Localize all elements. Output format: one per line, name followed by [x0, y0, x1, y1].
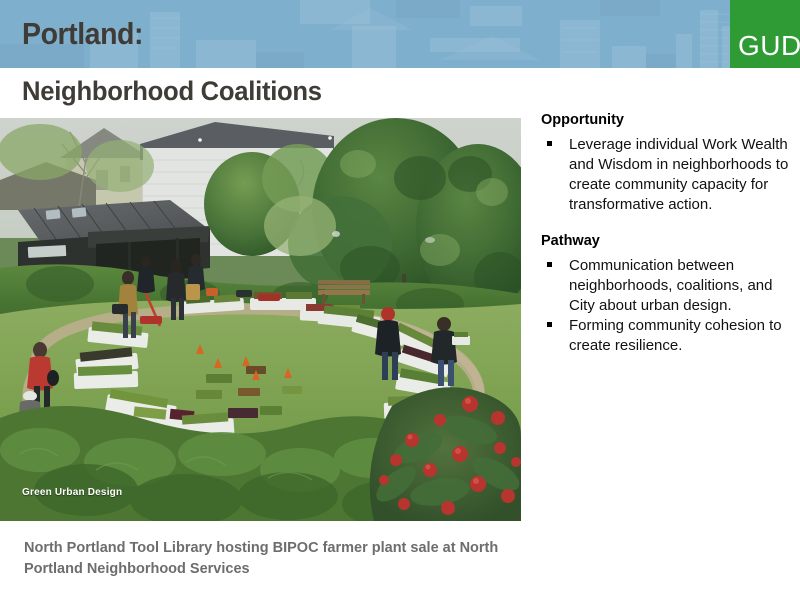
section-heading-pathway: Pathway: [541, 233, 791, 250]
section-pathway: Pathway Communication between neighborho…: [541, 233, 791, 356]
page-title: Portland:: [22, 18, 143, 49]
square-bullet-icon: [547, 141, 552, 146]
photo-illustration: [0, 118, 521, 521]
plant-sale-photo: Green Urban Design: [0, 118, 521, 521]
slide-subtitle: Neighborhood Coalitions: [22, 77, 322, 107]
list-item-text: Leverage individual Work Wealth and Wisd…: [569, 136, 788, 212]
list-item-text: Communication between neighborhoods, coa…: [569, 257, 772, 314]
square-bullet-icon: [547, 322, 552, 327]
list-item: Forming community cohesion to create res…: [541, 316, 791, 356]
bullet-list-pathway: Communication between neighborhoods, coa…: [541, 256, 791, 356]
section-spacer: [541, 216, 791, 233]
photo-watermark: Green Urban Design: [22, 487, 122, 498]
bullet-list-opportunity: Leverage individual Work Wealth and Wisd…: [541, 135, 791, 214]
section-opportunity: Opportunity Leverage individual Work Wea…: [541, 112, 791, 215]
header-band: Portland:: [0, 0, 800, 68]
content-column: Opportunity Leverage individual Work Wea…: [541, 112, 791, 357]
list-item-text: Forming community cohesion to create res…: [569, 317, 782, 354]
section-heading-opportunity: Opportunity: [541, 112, 791, 129]
slide-canvas: Portland: GUD Neighborhood Coalitions: [0, 0, 800, 600]
gud-logo-text: GUD: [738, 32, 800, 60]
list-item: Leverage individual Work Wealth and Wisd…: [541, 135, 791, 214]
square-bullet-icon: [547, 262, 552, 267]
list-item: Communication between neighborhoods, coa…: [541, 256, 791, 315]
photo-caption: North Portland Tool Library hosting BIPO…: [24, 538, 504, 580]
